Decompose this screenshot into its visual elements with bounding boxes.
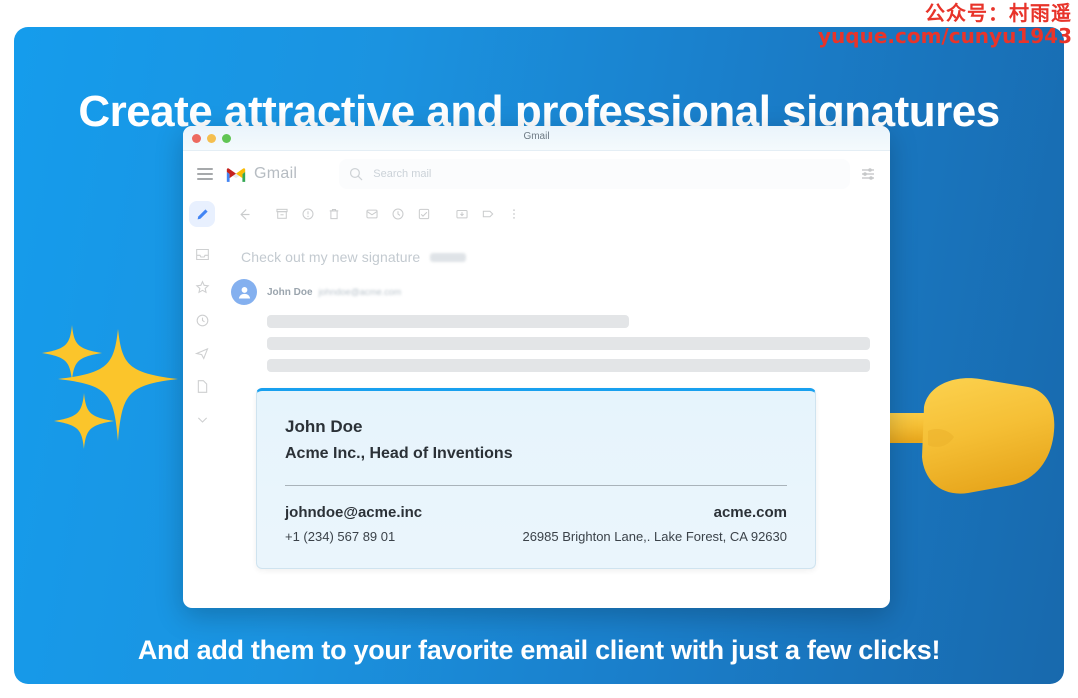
archive-icon[interactable] xyxy=(269,203,295,225)
search-icon xyxy=(349,167,363,181)
add-task-icon[interactable] xyxy=(411,203,437,225)
email-subject: Check out my new signature xyxy=(241,249,420,265)
mark-unread-icon[interactable] xyxy=(359,203,385,225)
email-sender-name: John Doe xyxy=(267,287,313,298)
delete-icon[interactable] xyxy=(321,203,347,225)
gmail-sidebar xyxy=(183,197,221,608)
sidebar-item-snoozed[interactable] xyxy=(191,309,213,331)
signature-email[interactable]: johndoe@acme.inc xyxy=(285,504,422,521)
signature-divider xyxy=(285,485,787,486)
email-label-badge xyxy=(430,253,466,262)
signature-contact-row: johndoe@acme.inc acme.com xyxy=(285,504,787,521)
gmail-brand-label: Gmail xyxy=(254,165,297,183)
report-spam-icon[interactable] xyxy=(295,203,321,225)
window-title: Gmail xyxy=(183,131,890,142)
search-bar[interactable]: Search mail xyxy=(339,159,850,189)
watermark-line1: 公众号：村雨遥 xyxy=(818,2,1072,24)
sidebar-item-more[interactable] xyxy=(191,408,213,430)
compose-button[interactable] xyxy=(189,201,215,227)
email-sender-address: johndoe@acme.com xyxy=(319,287,402,297)
back-icon[interactable] xyxy=(231,203,257,225)
sidebar-item-starred[interactable] xyxy=(191,276,213,298)
body-line-3 xyxy=(267,359,870,372)
sidebar-item-sent[interactable] xyxy=(191,342,213,364)
email-subject-row: Check out my new signature xyxy=(241,249,870,265)
signature-website[interactable]: acme.com xyxy=(714,504,787,521)
signature-phone: +1 (234) 567 89 01 xyxy=(285,529,395,544)
sparkles-decoration xyxy=(40,317,200,457)
main-menu-icon[interactable] xyxy=(197,168,213,180)
move-to-icon[interactable] xyxy=(449,203,475,225)
pointing-left-hand-icon xyxy=(862,369,1062,499)
search-input[interactable]: Search mail xyxy=(373,168,431,180)
gmail-main-panel: Check out my new signature John Doe john… xyxy=(221,197,890,608)
label-icon[interactable] xyxy=(475,203,501,225)
signature-card: John Doe Acme Inc., Head of Inventions j… xyxy=(256,388,816,569)
signature-name: John Doe xyxy=(285,413,787,441)
snooze-icon[interactable] xyxy=(385,203,411,225)
email-toolbar xyxy=(231,201,870,227)
avatar xyxy=(231,279,257,305)
page-subtitle: And add them to your favorite email clie… xyxy=(14,635,1064,666)
sparkle-small-bottom-icon xyxy=(54,393,114,449)
body-line-1 xyxy=(267,315,629,328)
body-line-2 xyxy=(267,337,870,350)
signature-role: Acme Inc., Head of Inventions xyxy=(285,441,787,467)
more-options-icon[interactable] xyxy=(501,203,527,225)
gmail-logo-icon xyxy=(225,166,247,183)
signature-detail-row: +1 (234) 567 89 01 26985 Brighton Lane,.… xyxy=(285,529,787,544)
gmail-window: Gmail Gmail xyxy=(183,126,890,608)
email-body-placeholder xyxy=(267,315,870,372)
email-sender-row: John Doe johndoe@acme.com xyxy=(231,279,870,305)
sidebar-item-inbox[interactable] xyxy=(191,243,213,265)
gmail-header: Gmail Search mail xyxy=(183,151,890,197)
sidebar-item-drafts[interactable] xyxy=(191,375,213,397)
gmail-body: Check out my new signature John Doe john… xyxy=(183,197,890,608)
signature-address: 26985 Brighton Lane,. Lake Forest, CA 92… xyxy=(522,529,787,544)
promo-panel: Create attractive and professional signa… xyxy=(14,27,1064,684)
window-titlebar: Gmail xyxy=(183,126,890,151)
search-options-icon[interactable] xyxy=(860,166,876,182)
